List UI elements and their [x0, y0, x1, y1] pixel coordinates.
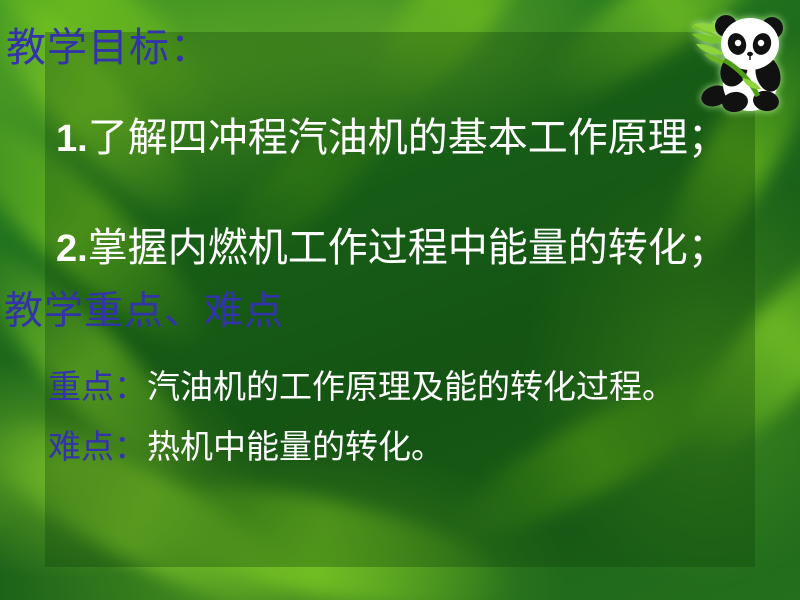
keypoint-body-1: 汽油机的工作原理及能的转化过程。 — [147, 367, 675, 406]
teaching-goals-title: 教学目标： — [6, 28, 211, 68]
keypoint-line-2: 难点：热机中能量的转化。 — [48, 430, 444, 463]
teaching-goal-item-2: 2.掌握内燃机工作过程中能量的转化； — [56, 228, 728, 268]
keypoint-line-1: 重点：汽油机的工作原理及能的转化过程。 — [48, 370, 675, 403]
teaching-goal-item-1: 1.了解四冲程汽油机的基本工作原理； — [56, 118, 728, 158]
keypoint-label-1: 重点： — [48, 367, 147, 406]
goal-number-1: 1. — [56, 118, 88, 160]
goal-number-2: 2. — [56, 228, 88, 270]
keypoint-body-2: 热机中能量的转化。 — [147, 427, 444, 466]
keypoints-title: 教学重点、难点 — [4, 292, 284, 331]
presentation-slide: 教学目标： 1.了解四冲程汽油机的基本工作原理； 2.掌握内燃机工作过程中能量的… — [0, 0, 800, 600]
keypoint-label-2: 难点： — [48, 427, 147, 466]
goal-text-2: 掌握内燃机工作过程中能量的转化； — [88, 225, 728, 271]
panda-with-bamboo-icon — [690, 4, 798, 114]
goal-text-1: 了解四冲程汽油机的基本工作原理； — [88, 115, 728, 161]
